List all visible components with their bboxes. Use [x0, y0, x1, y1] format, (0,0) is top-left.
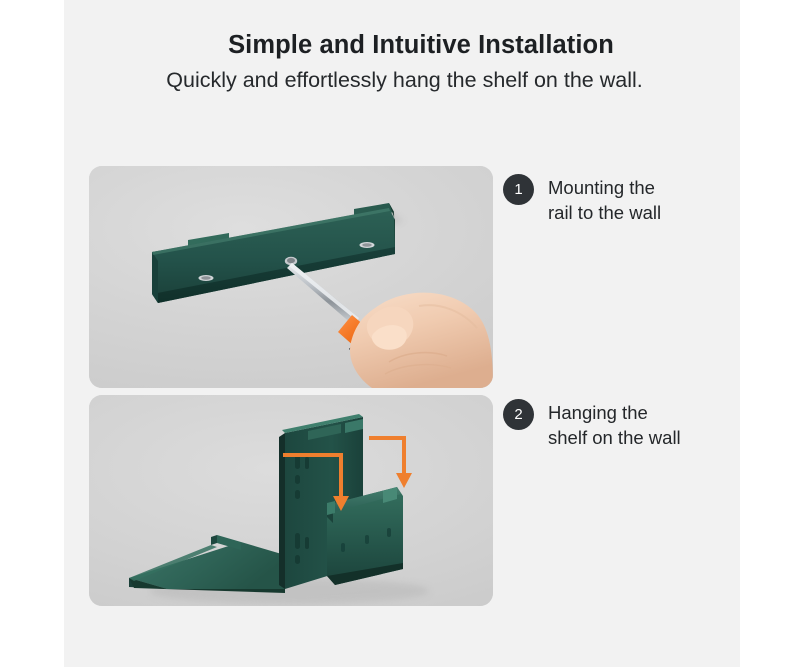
step-1: 1 Mounting the rail to the wall — [503, 173, 661, 225]
step-1-label: Mounting the rail to the wall — [548, 173, 661, 225]
step-2: 2 Hanging the shelf on the wall — [503, 398, 681, 450]
hand — [350, 293, 493, 388]
step-2-label: Hanging the shelf on the wall — [548, 398, 681, 450]
hanging-shelf-illustration — [89, 395, 493, 606]
step-1-badge: 1 — [503, 174, 534, 205]
header: Simple and Intuitive Installation Quickl… — [64, 30, 740, 94]
step-1-image-panel — [89, 166, 493, 388]
screw-head — [285, 257, 297, 265]
page-title: Simple and Intuitive Installation — [64, 30, 740, 60]
mounting-rail-illustration — [89, 166, 493, 388]
installation-infographic: Simple and Intuitive Installation Quickl… — [0, 0, 800, 667]
page-subtitle: Quickly and effortlessly hang the shelf … — [64, 66, 740, 94]
step-2-image-panel — [89, 395, 493, 606]
step-2-badge: 2 — [503, 399, 534, 430]
